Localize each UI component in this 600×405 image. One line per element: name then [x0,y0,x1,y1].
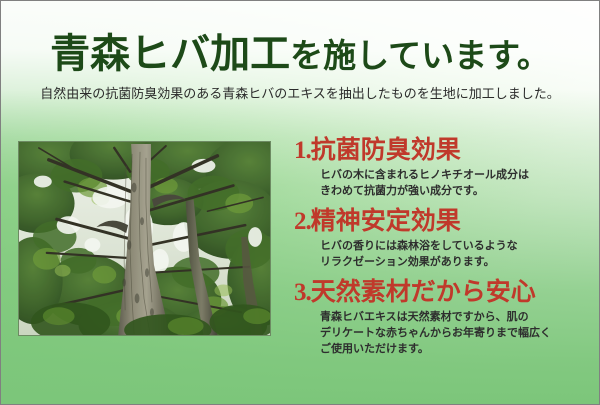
page-title: 青森ヒバ加工を施しています。 [1,34,599,74]
benefit-1-number: 1. [294,137,311,164]
benefit-item-2: 2.精神安定効果 ヒバの香りには森林浴をしているような リラクゼーション効果があ… [294,208,594,270]
benefit-3-number: 3. [294,279,311,306]
benefit-3-description: 青森ヒバエキスは天然素材ですから、肌の デリケートな赤ちゃんからお年寄りまで幅広… [320,310,594,357]
hiba-tree-photo [18,141,271,336]
page-subtitle: 自然由来の抗菌防臭効果のある青森ヒバのエキスを抽出したものを生地に加工しました。 [1,87,599,100]
benefit-1-heading: 1.抗菌防臭効果 [294,137,594,164]
benefit-1-title: 抗菌防臭効果 [311,137,461,164]
benefit-item-1: 1.抗菌防臭効果 ヒバの木に含まれるヒノキチオール成分は きわめて抗菌力が強い成… [294,137,594,199]
banner-header: 青森ヒバ加工を施しています。 自然由来の抗菌防臭効果のある青森ヒバのエキスを抽出… [1,1,599,100]
benefits-list: 1.抗菌防臭効果 ヒバの木に含まれるヒノキチオール成分は きわめて抗菌力が強い成… [294,137,594,357]
page-title-tail: を施しています。 [290,39,550,75]
hiba-tree-photo-image [19,142,270,335]
benefit-1-description: ヒバの木に含まれるヒノキチオール成分は きわめて抗菌力が強い成分です。 [320,168,594,199]
benefit-item-3: 3.天然素材だから安心 青森ヒバエキスは天然素材ですから、肌の デリケートな赤ち… [294,279,594,357]
benefit-2-description: ヒバの香りには森林浴をしているような リラクゼーション効果があります。 [320,239,594,270]
benefit-3-heading: 3.天然素材だから安心 [294,279,594,306]
benefit-2-heading: 2.精神安定効果 [294,208,594,235]
benefit-2-title: 精神安定効果 [311,208,461,235]
hiba-promo-banner: 青森ヒバ加工を施しています。 自然由来の抗菌防臭効果のある青森ヒバのエキスを抽出… [0,0,600,405]
benefit-3-title: 天然素材だから安心 [311,279,536,306]
page-title-main: 青森ヒバ加工 [50,31,290,76]
benefit-2-number: 2. [294,208,311,235]
